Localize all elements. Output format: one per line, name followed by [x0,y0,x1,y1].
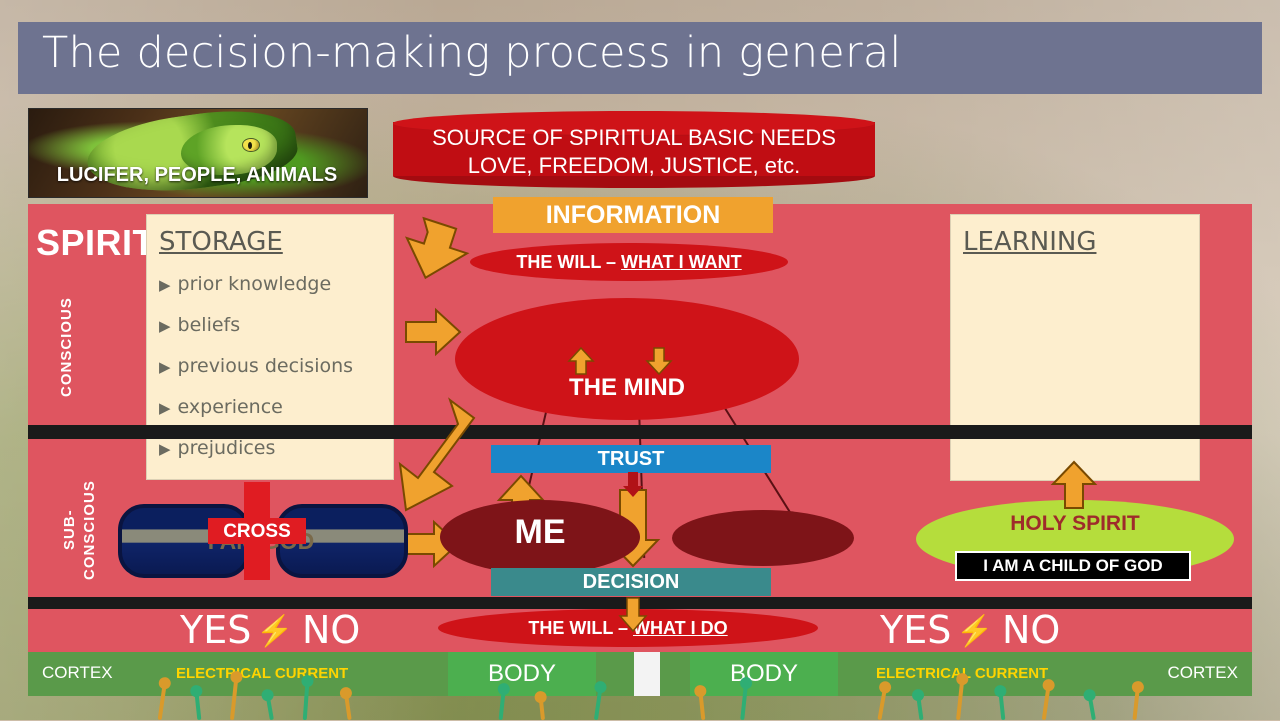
lightning-bolt-icon: ⚡ [256,614,293,649]
source-cylinder-text: SOURCE OF SPIRITUAL BASIC NEEDS LOVE, FR… [393,124,875,180]
source-line-1: SOURCE OF SPIRITUAL BASIC NEEDS [393,124,875,152]
learning-title: LEARNING [963,227,1096,257]
outcome-left-no: NO [302,608,360,652]
holy-spirit-label: HOLY SPIRIT [916,512,1234,536]
will-want-underlined: WHAT I WANT [621,252,742,272]
slide-title-bar: The decision-making process in general [18,22,1262,94]
spirit-label: SPIRIT [36,222,155,264]
list-item: ▶previous decisions [159,355,353,377]
arrow-down-to-body-icon [618,598,648,632]
outcome-left-yes: YES [180,608,251,652]
conscious-subconscious-divider [28,425,1252,439]
body-gap [634,652,660,696]
trust-bar: TRUST [491,445,771,473]
outcome-right: YES ⚡ NO [880,608,1100,654]
source-of-needs-cylinder: SOURCE OF SPIRITUAL BASIC NEEDS LOVE, FR… [393,112,875,184]
storage-title: STORAGE [159,227,283,257]
storage-item-label: prior knowledge [178,273,332,295]
trust-down-marker-icon [622,472,644,498]
outcome-right-yes: YES [880,608,951,652]
bullet-triangle-icon: ▶ [159,276,171,294]
electrical-current-left: ELECTRICAL CURRENT [176,665,348,682]
storage-item-label: previous decisions [178,355,354,377]
me-label: ME [440,513,640,552]
will-want-prefix: THE WILL – [516,252,621,272]
cortex-label-left: CORTEX [42,663,113,683]
bullet-triangle-icon: ▶ [159,399,171,417]
bullet-triangle-icon: ▶ [159,317,171,335]
page-title: The decision-making process in general [42,28,902,78]
arrow-down-left-long-icon [388,398,498,518]
storage-item-label: experience [178,396,283,418]
list-item: ▶experience [159,396,353,418]
list-item: ▶prejudices [159,437,353,459]
list-item: ▶prior knowledge [159,273,353,295]
dark-ellipse-right [672,510,854,566]
arrow-right-icon-1 [406,308,462,356]
learning-box: LEARNING [950,214,1200,481]
body-box-right: BODY [690,652,838,696]
photo-caption: LUCIFER, PEOPLE, ANIMALS [28,164,366,187]
arrow-down-small-icon [644,346,674,376]
body-box-left: BODY [448,652,596,696]
subconscious-label: SUB- CONSCIOUS [60,470,100,590]
list-item: ▶beliefs [159,314,353,336]
cross-label: CROSS [208,521,306,543]
arrow-up-to-learning-icon [1050,460,1098,510]
will-what-i-want-text: THE WILL – WHAT I WANT [470,243,788,281]
arrow-up-small-icon [566,346,596,376]
source-line-2: LOVE, FREEDOM, JUSTICE, etc. [393,152,875,180]
outcome-right-no: NO [1002,608,1060,652]
outcome-left: YES ⚡ NO [180,608,400,654]
bullet-triangle-icon: ▶ [159,358,171,376]
conscious-label: CONSCIOUS [58,282,75,412]
cortex-label-right: CORTEX [1167,663,1238,683]
information-bar: INFORMATION [493,197,773,233]
the-mind-label: THE MIND [455,374,799,402]
will-what-i-want-ellipse: THE WILL – WHAT I WANT [470,243,788,281]
subconscious-label-line2: CONSCIOUS [81,480,98,580]
decision-bar: DECISION [491,568,771,596]
bullet-triangle-icon: ▶ [159,440,171,458]
child-of-god-box: I AM A CHILD OF GOD [955,551,1191,581]
subconscious-label-line1: SUB- [61,510,78,551]
storage-item-label: prejudices [178,437,276,459]
storage-item-label: beliefs [178,314,241,336]
snake-pupil [248,142,252,149]
storage-list: ▶prior knowledge ▶beliefs ▶previous deci… [159,273,353,478]
lightning-bolt-icon: ⚡ [956,614,993,649]
arrow-down-left-icon-1 [404,222,470,286]
storage-box: STORAGE ▶prior knowledge ▶beliefs ▶previ… [146,214,394,480]
